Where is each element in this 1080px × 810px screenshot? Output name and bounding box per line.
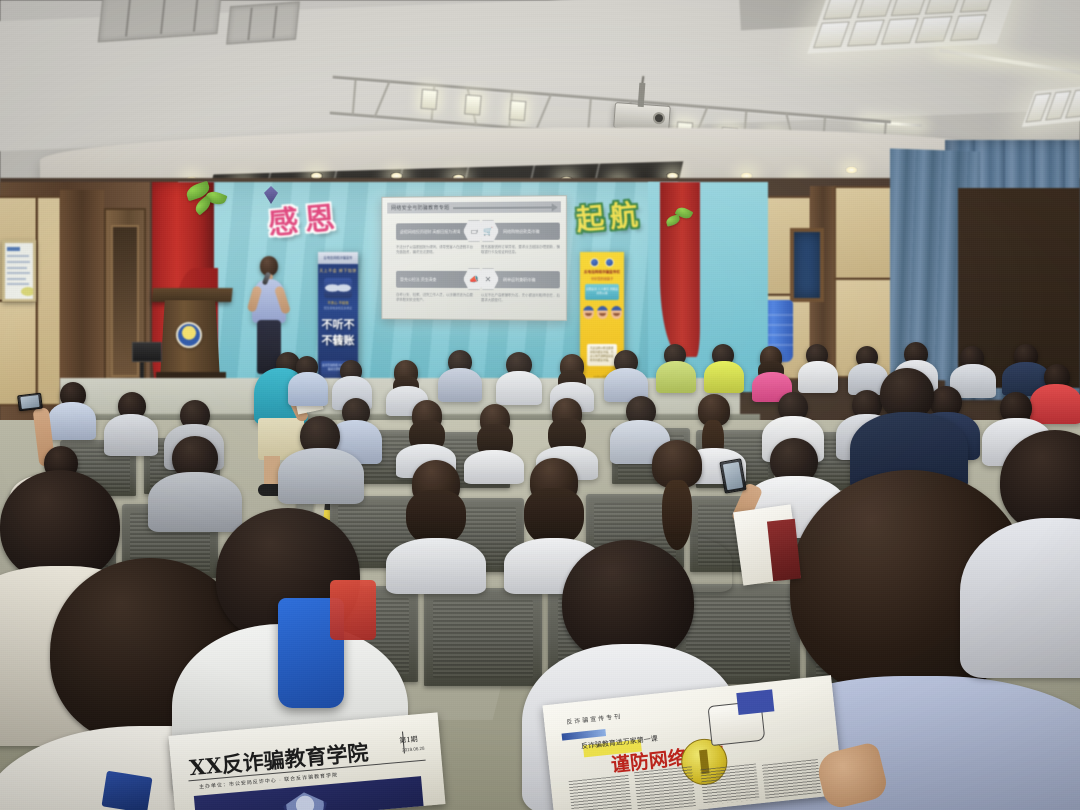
speaker-amp-box [132, 342, 162, 362]
police-badge-emblem [176, 322, 202, 348]
truss-lamp [420, 89, 438, 110]
banner-blue-headline-2: 不转账 [318, 332, 358, 348]
framed-notice-poster [2, 240, 36, 302]
leaflet-left-date: 2019.06.28 [402, 746, 425, 753]
slide-body-2: 冒充客服谎称订单异常，要求点击链接办理退款，骗取银行卡及验证码信息。 [481, 245, 562, 255]
lanyard [101, 771, 152, 810]
slide-cell-1-label: 虚假网络投资理财 高额回报为诱饵 [396, 229, 464, 234]
banner-blue-cap-text: 反电信网络诈骗宣传 [318, 252, 358, 264]
slide-arrow-icon [454, 206, 557, 209]
air-conditioner-vent-center [226, 1, 300, 44]
podium-top [151, 288, 232, 302]
slide-cell-1: 虚假网络投资理财 高额回报为诱饵 [396, 223, 473, 240]
wall-panel-left-c [36, 196, 62, 406]
photo-scene: 感 恩 起 航 网络安全与防骗教育专题 虚假网络投资理财 高额回报为诱饵 ▭ 不… [0, 0, 1080, 810]
projection-screen: 网络安全与防骗教育专题 虚假网络投资理财 高额回报为诱饵 ▭ 不法分子以高额回报… [381, 195, 567, 321]
truss-lamp [465, 94, 483, 115]
banner-blue-phone-art [324, 278, 352, 298]
red-bag-on-seat [330, 580, 376, 640]
slide-title: 网络安全与防骗教育专题 [391, 204, 449, 211]
cartoon-police-icon [580, 306, 624, 319]
downlight [845, 166, 858, 174]
slide-body-1: 不法分子以高额回报为诱饵，诱导受害人在虚假平台充值投资，最终无法提现。 [396, 245, 475, 255]
banner-yellow-strip: 全民反诈 人人参与 共筑反诈防火墙 [585, 284, 619, 300]
leaflet-right-kicker: 反诈骗宣传专刊 [566, 711, 623, 726]
banner-blue-subtitle: 天上不会 掉下馅饼 [318, 268, 358, 274]
smartphone [17, 393, 43, 412]
banner-yellow-subheader: 守好您的钱袋子 [580, 276, 624, 281]
projector-lens [653, 112, 666, 125]
banner-blue-mid-text2: 陌生来电多核实多求证 [318, 306, 358, 310]
framed-picture-right [790, 228, 824, 302]
banner-yellow-strip-text: 全民反诈 人人参与 共筑反诈防火墙 [585, 284, 619, 295]
truss-lamp [509, 100, 527, 121]
slide-cell-3: 冒充公检法 资金清查 [396, 271, 473, 288]
banner-blue-cap: 反电信网络诈骗宣传 [318, 252, 358, 264]
banner-yellow-badges [580, 258, 624, 267]
banner-blue-mid-text: 不贪心 不轻信 [318, 300, 358, 305]
banner-yellow-textblock: 凡是自称公检法要求转账的都是诈骗；凡是让你开通网银接受检查的都是诈骗。 [587, 344, 617, 366]
slide-cell-3-label: 冒充公检法 资金清查 [396, 277, 440, 282]
seat [424, 588, 542, 686]
banner-yellow-header: 反电信网络诈骗宣传栏 [580, 270, 624, 275]
backdrop-text-left: 感 恩 [266, 193, 334, 242]
leaflet-left-masthead: XX反诈骗教育学院 [188, 737, 370, 783]
slide-title-bar: 网络安全与防骗教育专题 [387, 201, 561, 213]
wall-panel-left-b [0, 300, 38, 406]
slide-body-3: 自称公安、检察、法院工作人员，以涉嫌洗钱为由要求转账到安全账户。 [396, 293, 475, 304]
banner-yellow-block-text: 凡是自称公检法要求转账的都是诈骗；凡是让你开通网银接受检查的都是诈骗。 [587, 344, 617, 366]
slide-body-4: 以足不出户高薪兼职为名，先小额返利取得信任，后要求大额垫付。 [481, 293, 562, 304]
backdrop-text-right: 起 航 [574, 193, 637, 238]
leaflet-right-blue-block [736, 689, 774, 715]
